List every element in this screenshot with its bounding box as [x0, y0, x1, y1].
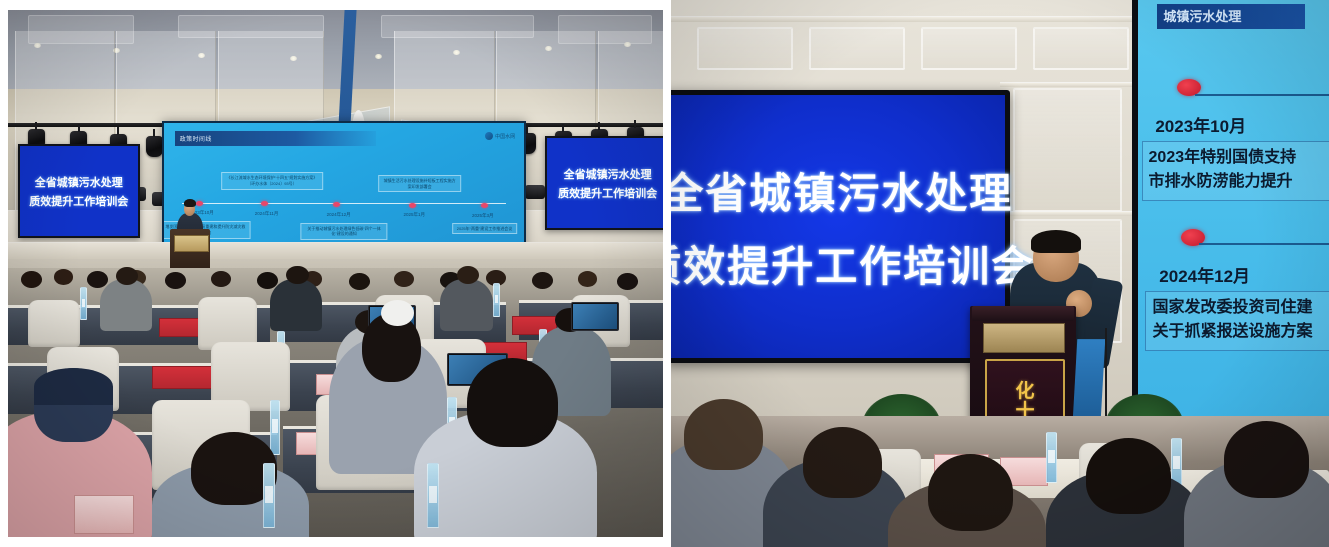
podium-nameplate — [174, 235, 209, 252]
name-card — [152, 366, 213, 389]
attendee-head — [684, 399, 763, 470]
stage-speaker-hair — [184, 199, 196, 207]
attendee-head — [457, 266, 479, 284]
main-led-wall: 政策时间线 中国水网 2023年10月 2024年11月 2024年12月 20… — [162, 121, 526, 262]
left-photo: 政策时间线 中国水网 2023年10月 2024年11月 2024年12月 20… — [8, 10, 663, 537]
attendee-head — [349, 273, 370, 290]
timeline-slide-screen: 城镇污水处理 2023年10月 2023年特别国债支持 市排水防涝能力提升 20… — [1132, 0, 1329, 416]
attendee-head — [87, 271, 108, 288]
water-bottle — [493, 283, 500, 317]
timeline-callout: 城镇生活污水处理设施补短板工程实施方案印发部署会 — [378, 175, 462, 193]
title-line-1: 全省城镇污水处理 — [671, 160, 1013, 221]
timeline-date: 2024年12月 — [1159, 262, 1250, 287]
callout-line-1: 国家发改委投资司住建 — [1152, 296, 1329, 320]
timeline-callout: 2025年“两重”建设工作推进会议 — [452, 223, 518, 235]
right-banner-screen: 全省城镇污水处理 质效提升工作培训会 — [545, 136, 663, 230]
timeline-connector — [1199, 243, 1329, 245]
water-bottle — [427, 463, 439, 528]
presenter-hair — [1031, 230, 1081, 253]
callout-line-2: 关于抓紧报送设施方案 — [1152, 320, 1329, 344]
water-bottle — [1046, 432, 1057, 483]
timeline-date: 2024年11月 — [255, 211, 279, 217]
chair — [28, 300, 80, 347]
timeline-callout: 《长江流域水生态环境保护“十四五”规划实施方案》（环办水体〔2024〕93号） — [221, 172, 323, 190]
attendee-head — [467, 358, 559, 448]
podium-side-panel — [1072, 339, 1105, 427]
phone-screen — [573, 304, 617, 328]
hair-clip — [381, 300, 414, 326]
banner-line-2: 质效提升工作培训会 — [29, 193, 128, 209]
attendee-head — [928, 454, 1014, 531]
attendee-head — [1224, 421, 1310, 498]
attendee — [270, 279, 322, 332]
conference-title-screen: 全省城镇污水处理 质效提升工作培训会 — [671, 90, 1010, 363]
timeline-callout: 2023年特别国债支持 市排水防涝能力提升 — [1142, 141, 1329, 201]
stage-light — [146, 136, 163, 157]
water-bottle — [80, 287, 87, 321]
water-bottle — [270, 400, 280, 455]
smartphone — [571, 302, 619, 330]
podium-top — [972, 306, 1073, 321]
attendee-head — [803, 427, 882, 498]
attendee-head — [286, 266, 308, 284]
wall-panel — [697, 27, 793, 69]
slide-title-bar: 城镇污水处理 — [1157, 4, 1305, 29]
slide-title-bar: 政策时间线 — [175, 131, 377, 146]
attendee-head — [617, 273, 638, 290]
timeline-date: 2025年3月 — [472, 213, 494, 219]
stage-light — [525, 185, 545, 199]
wall-molding — [1000, 211, 1132, 216]
timeline-dot — [409, 203, 416, 208]
collage-canvas: 政策时间线 中国水网 2023年10月 2024年11月 2024年12月 20… — [0, 0, 1329, 547]
podium-nameplate — [983, 323, 1065, 353]
attendee — [100, 279, 152, 332]
attendee — [440, 279, 492, 332]
left-banner-screen: 全省城镇污水处理 质效提升工作培训会 — [18, 144, 140, 238]
attendee-head — [578, 271, 598, 287]
wall-panel — [921, 27, 1017, 69]
timeline-dot — [261, 201, 268, 206]
water-bottle — [263, 463, 275, 528]
callout-line-2: 市排水防涝能力提升 — [1149, 170, 1329, 194]
name-card — [74, 495, 135, 534]
timeline-callout: 关于推动城镇污水处理绿色低碳“四个一体化”建设的通知 — [300, 223, 387, 241]
wall-panel — [1013, 88, 1122, 212]
cap-icon — [34, 368, 113, 405]
stage-trim — [8, 242, 663, 259]
timeline-connector — [1195, 94, 1329, 96]
timeline-dot — [196, 201, 203, 206]
banner-line-1: 全省城镇污水处理 — [35, 174, 123, 190]
wall-panel — [1033, 27, 1129, 69]
timeline-date: 2024年12月 — [327, 212, 351, 218]
attendee-head — [21, 271, 42, 288]
callout-line-1: 2023年特别国债支持 — [1149, 146, 1329, 170]
attendee-head — [1086, 438, 1172, 515]
timeline-callout: 国家发改委投资司住建 关于抓紧报送设施方案 — [1145, 291, 1329, 351]
timeline-date: 2023年10月 — [1155, 112, 1246, 137]
slide-logo: 中国水网 — [485, 132, 515, 140]
plaque-char-1: 化 — [1015, 382, 1034, 402]
title-line-2: 质效提升工作培训会 — [671, 233, 1035, 294]
wall-panel — [809, 27, 905, 69]
timeline-axis — [182, 203, 506, 204]
banner-line-2: 质效提升工作培训会 — [558, 185, 657, 201]
timeline-dot — [333, 202, 340, 207]
slide-title: 城镇污水处理 — [1163, 6, 1241, 25]
attendee-head — [211, 271, 231, 287]
timeline-date: 2025年1月 — [404, 212, 426, 218]
wall-molding — [1000, 82, 1132, 87]
logo-mark-icon — [485, 132, 493, 140]
attendee-head — [394, 271, 414, 287]
logo-text: 中国水网 — [495, 133, 515, 140]
banner-line-1: 全省城镇污水处理 — [564, 166, 652, 182]
right-photo: 全省城镇污水处理 质效提升工作培训会 城镇污水处理 2023年10月 2023年… — [671, 0, 1329, 547]
stage-podium — [170, 229, 209, 274]
slide-title: 政策时间线 — [175, 134, 212, 143]
timeline-dot — [481, 203, 488, 208]
